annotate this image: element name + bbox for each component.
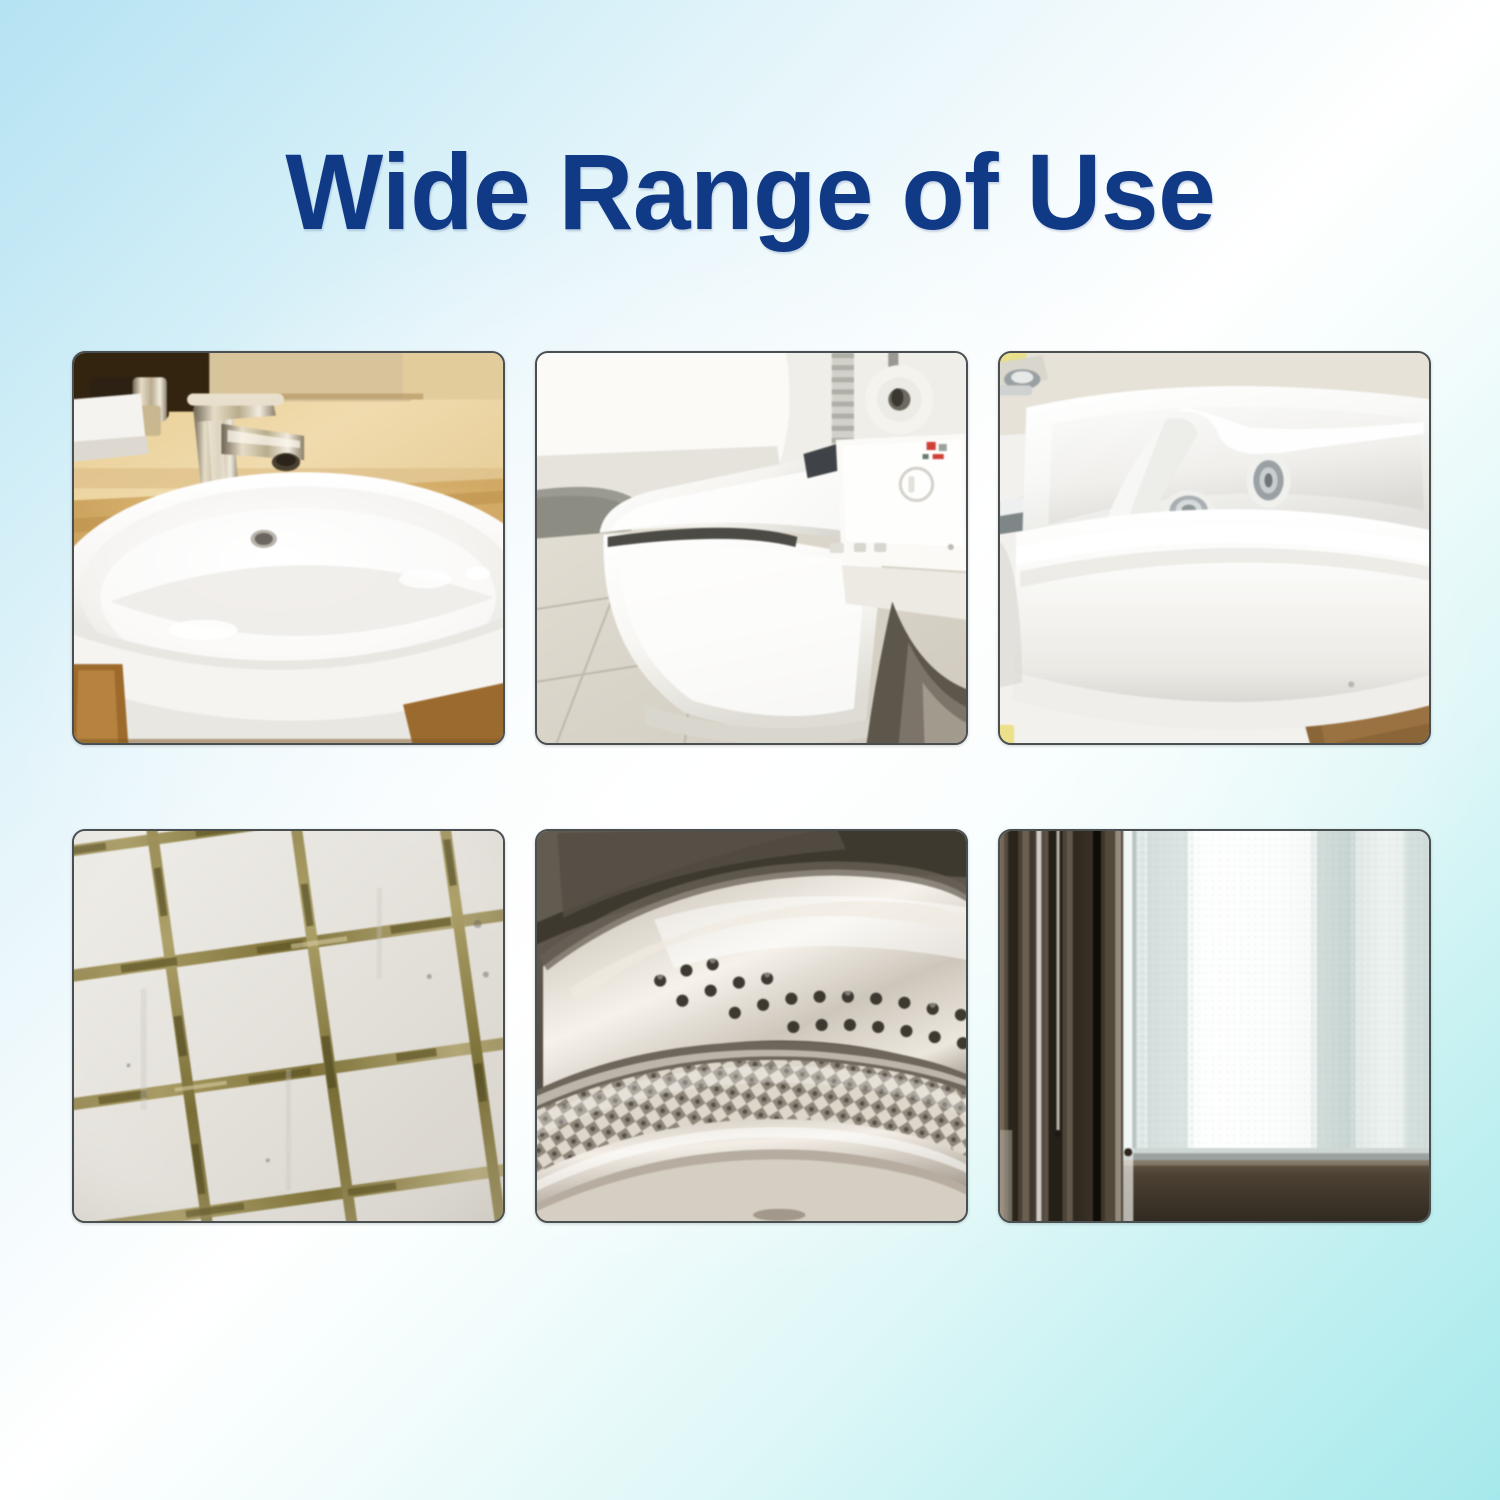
gallery-tile-smart-toilet[interactable] — [535, 351, 968, 745]
gallery-tile-frosted-glass-door[interactable] — [998, 829, 1431, 1223]
photo-whirlpool-bathtub — [998, 351, 1431, 745]
page-title: Wide Range of Use — [285, 138, 1215, 246]
drum-illustration — [535, 829, 968, 1223]
photo-bathroom-sink — [72, 351, 505, 745]
gallery-tile-tile-grout[interactable] — [72, 829, 505, 1223]
grout-illustration — [72, 829, 505, 1223]
infographic-page: Wide Range of Use — [0, 0, 1500, 1500]
photo-smart-toilet — [535, 351, 968, 745]
gallery-tile-bathroom-sink[interactable] — [72, 351, 505, 745]
toilet-illustration — [535, 351, 968, 745]
use-case-gallery — [72, 351, 1431, 1223]
gallery-tile-washing-machine-drum[interactable] — [535, 829, 968, 1223]
bathtub-illustration — [998, 351, 1431, 745]
gallery-tile-whirlpool-bathtub[interactable] — [998, 351, 1431, 745]
glass-door-illustration — [998, 829, 1431, 1223]
title-container: Wide Range of Use — [0, 138, 1500, 246]
sink-illustration — [72, 351, 505, 745]
photo-washing-machine-drum — [535, 829, 968, 1223]
photo-frosted-glass-door — [998, 829, 1431, 1223]
photo-tile-grout — [72, 829, 505, 1223]
